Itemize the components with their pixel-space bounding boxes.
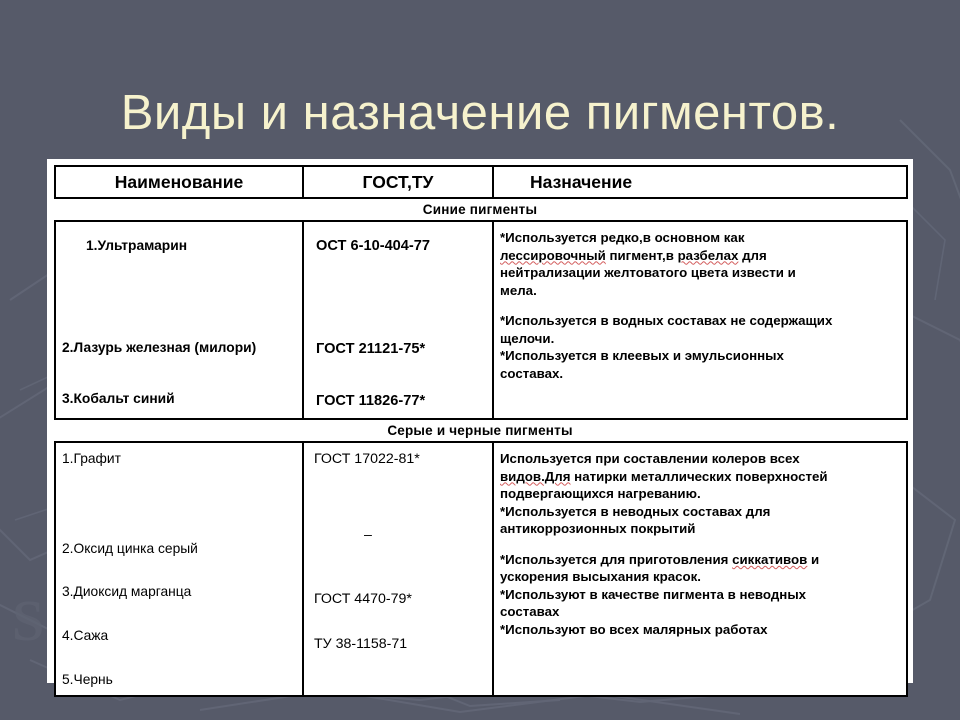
- page-title: Виды и назначение пигментов.: [0, 85, 960, 141]
- svg-text:S: S: [12, 588, 44, 653]
- content-panel: Наименование ГОСТ,ТУ Назначение Синие пи…: [47, 159, 913, 683]
- list-item: 2.Лазурь железная (милори): [62, 339, 296, 357]
- pigment-table-grey: 1.Графит 2.Оксид цинка серый 3.Диоксид м…: [54, 441, 908, 697]
- list-item: 1.Ультрамарин: [62, 237, 296, 255]
- header-cell-name: Наименование: [55, 166, 303, 198]
- table-header-row: Наименование ГОСТ,ТУ Назначение: [55, 166, 907, 198]
- table-row: 1.Графит 2.Оксид цинка серый 3.Диоксид м…: [55, 442, 907, 696]
- cell-gost-blue: ОСТ 6-10-404-77 ГОСТ 21121-75* ГОСТ 1182…: [303, 221, 493, 419]
- header-label-gost: ГОСТ,ТУ: [304, 172, 492, 193]
- purpose-paragraph-grey: Используется при составлении колеров все…: [500, 450, 900, 638]
- pigment-table-blue: 1.Ультрамарин 2.Лазурь железная (милори)…: [54, 220, 908, 420]
- header-cell-purpose: Назначение: [493, 166, 907, 198]
- header-label-purpose: Назначение: [494, 172, 906, 193]
- list-item: ТУ 38-1158-71: [310, 635, 486, 653]
- purpose-paragraph-blue: *Используется редко,в основном каклессир…: [500, 229, 900, 382]
- cell-purpose-blue: *Используется редко,в основном каклессир…: [493, 221, 907, 419]
- list-item: 5.Чернь: [62, 671, 296, 689]
- list-item: ГОСТ 4470-79*: [310, 590, 486, 608]
- list-item: 3.Диоксид марганца: [62, 583, 296, 601]
- section-label-blue: Синие пигменты: [54, 199, 906, 220]
- list-item: ОСТ 6-10-404-77: [310, 237, 486, 256]
- table-row: 1.Ультрамарин 2.Лазурь железная (милори)…: [55, 221, 907, 419]
- list-item: 2.Оксид цинка серый: [62, 540, 296, 558]
- list-item: ГОСТ 21121-75*: [310, 340, 486, 359]
- header-cell-gost: ГОСТ,ТУ: [303, 166, 493, 198]
- list-item: 3.Кобальт синий: [62, 390, 296, 408]
- cell-names-blue: 1.Ультрамарин 2.Лазурь железная (милори)…: [55, 221, 303, 419]
- list-item: ГОСТ 17022-81*: [310, 450, 486, 468]
- header-label-name: Наименование: [56, 172, 302, 193]
- list-item: ГОСТ 11826-77*: [310, 392, 486, 411]
- list-item: 4.Сажа: [62, 627, 296, 645]
- cell-gost-grey: ГОСТ 17022-81* – ГОСТ 4470-79* ТУ 38-115…: [303, 442, 493, 696]
- list-item: 1.Графит: [62, 450, 296, 468]
- cell-purpose-grey: Используется при составлении колеров все…: [493, 442, 907, 696]
- cell-names-grey: 1.Графит 2.Оксид цинка серый 3.Диоксид м…: [55, 442, 303, 696]
- section-label-grey: Серые и черные пигменты: [54, 420, 906, 441]
- list-item: –: [310, 526, 486, 544]
- pigment-table-header: Наименование ГОСТ,ТУ Назначение: [54, 165, 908, 199]
